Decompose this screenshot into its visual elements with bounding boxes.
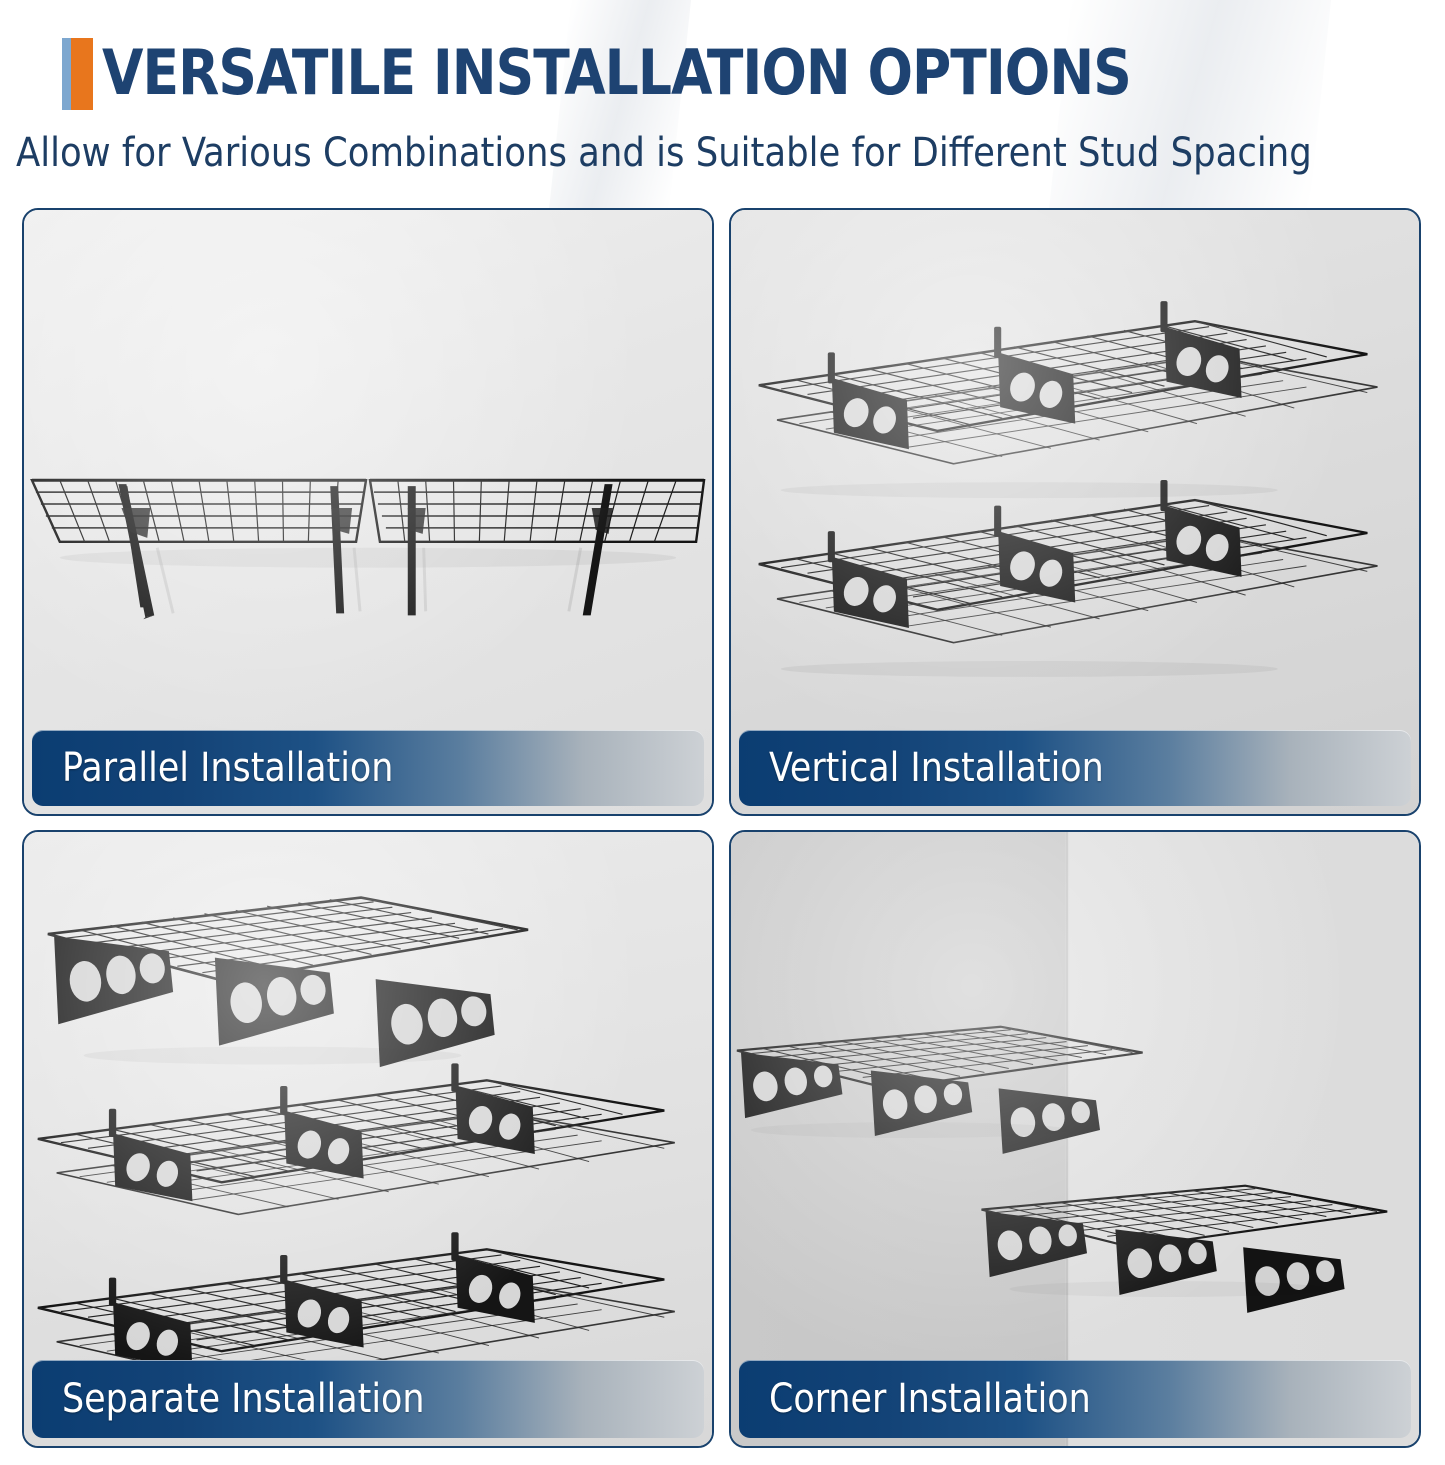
caption-label-corner: Corner Installation <box>769 1376 1091 1422</box>
caption-bar-vertical: Vertical Installation <box>739 730 1411 806</box>
panel-photo-corner <box>731 832 1419 1446</box>
panel-parallel-installation[interactable]: Parallel Installation <box>22 208 714 816</box>
illustration-separate-shelves <box>24 832 712 1446</box>
illustration-vertical-shelves <box>731 210 1419 814</box>
shelf-top-underside <box>48 898 528 1068</box>
panel-grid: Parallel Installation <box>0 0 1445 1465</box>
caption-label-parallel: Parallel Installation <box>62 745 393 791</box>
caption-bar-parallel: Parallel Installation <box>32 730 704 806</box>
panel-vertical-installation[interactable]: Vertical Installation <box>729 208 1421 816</box>
caption-label-vertical: Vertical Installation <box>769 745 1104 791</box>
caption-bar-separate: Separate Installation <box>32 1360 704 1438</box>
panel-photo-separate <box>24 832 712 1446</box>
infographic-page: VERSATILE INSTALLATION OPTIONS Allow for… <box>0 0 1445 1465</box>
panel-photo-parallel <box>24 210 712 814</box>
panel-separate-installation[interactable]: Separate Installation <box>22 830 714 1448</box>
illustration-parallel-shelves <box>24 210 712 814</box>
shelf-lower <box>759 480 1378 643</box>
panel-photo-vertical <box>731 210 1419 814</box>
shelf-middle <box>38 1063 675 1214</box>
caption-bar-corner: Corner Installation <box>739 1360 1411 1438</box>
panel-corner-installation[interactable]: Corner Installation <box>729 830 1421 1448</box>
shelf-upper <box>759 301 1378 464</box>
caption-label-separate: Separate Installation <box>62 1376 425 1422</box>
illustration-corner-shelves <box>731 832 1419 1446</box>
